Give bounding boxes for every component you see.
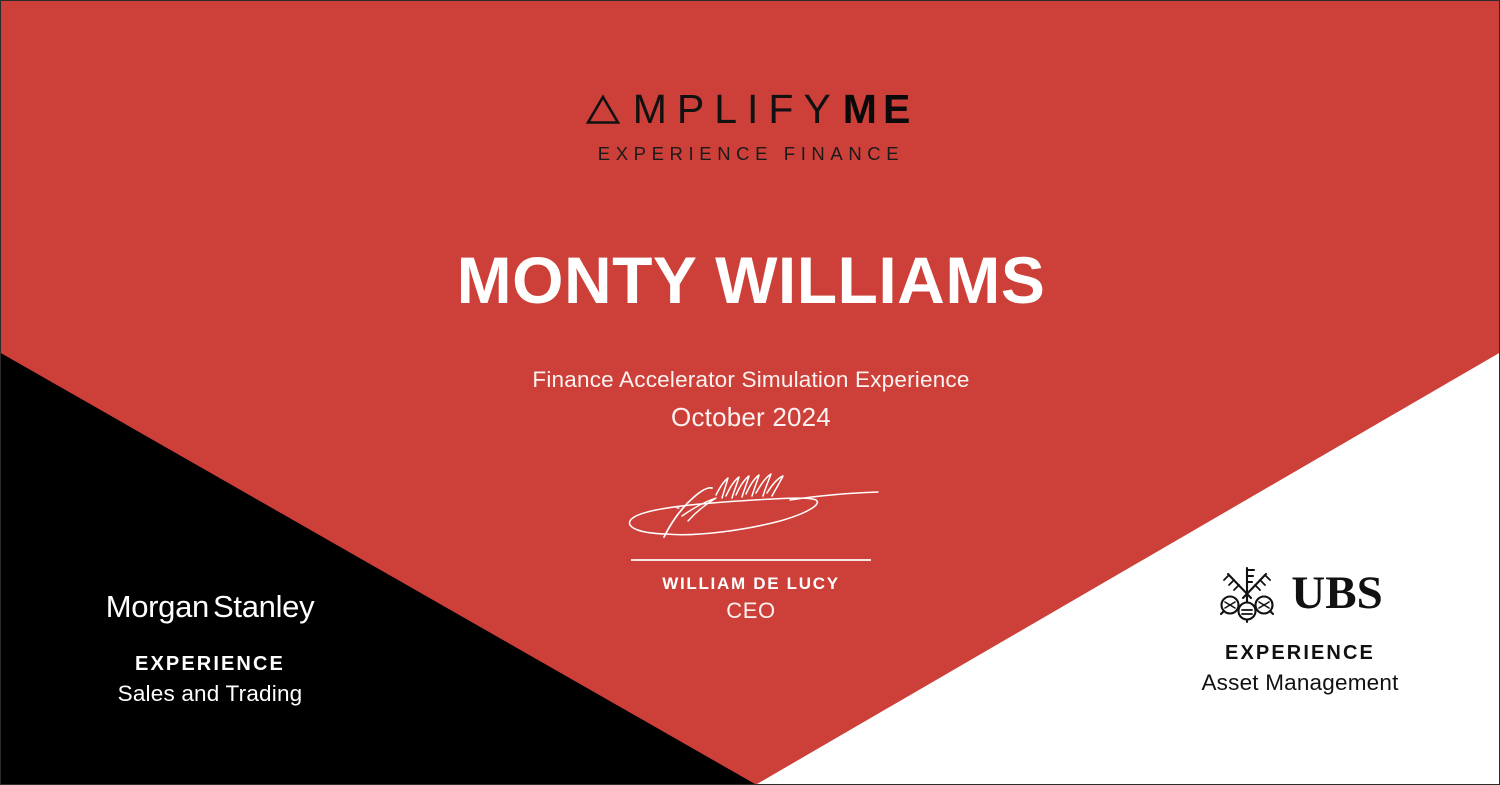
partner-experience-label-left: EXPERIENCE <box>54 653 366 676</box>
logo-name-bold: ME <box>843 89 917 130</box>
partner-track-right: Asset Management <box>1144 670 1456 696</box>
program-details: Finance Accelerator Simulation Experienc… <box>1 367 1500 433</box>
signature-divider <box>631 559 871 561</box>
amplifyme-wordmark: MPLIFY ME <box>586 89 917 130</box>
ubs-wordmark: UBS <box>1291 570 1382 617</box>
morgan-stanley-word-first: Morgan <box>106 589 209 624</box>
handwritten-signature-icon <box>620 471 882 553</box>
ubs-logo-lockup: UBS <box>1144 561 1456 625</box>
ubs-three-keys-icon <box>1217 562 1277 624</box>
course-date: October 2024 <box>1 402 1500 433</box>
triangle-icon <box>586 94 620 125</box>
logo-name-light: MPLIFY <box>633 89 841 130</box>
partner-block-morgan-stanley: MorganStanley EXPERIENCE Sales and Tradi… <box>54 591 366 707</box>
certificate-canvas: MPLIFY ME EXPERIENCE FINANCE MONTY WILLI… <box>0 0 1500 785</box>
recipient-name: MONTY WILLIAMS <box>1 244 1500 318</box>
morgan-stanley-word-second: Stanley <box>213 589 314 624</box>
amplifyme-logo: MPLIFY ME EXPERIENCE FINANCE <box>1 89 1500 165</box>
partner-experience-label-right: EXPERIENCE <box>1144 642 1456 665</box>
partner-track-left: Sales and Trading <box>54 681 366 707</box>
course-name: Finance Accelerator Simulation Experienc… <box>1 367 1500 393</box>
partner-block-ubs: UBS EXPERIENCE Asset Management <box>1144 561 1456 696</box>
morgan-stanley-wordmark-icon: MorganStanley <box>54 591 366 622</box>
logo-tagline: EXPERIENCE FINANCE <box>1 143 1500 165</box>
